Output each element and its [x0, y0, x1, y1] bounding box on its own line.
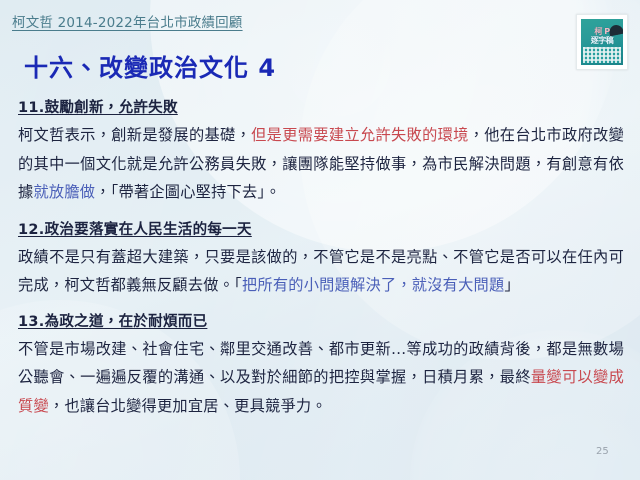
slide-kicker: 柯文哲 2014-2022年台北市政績回顧	[12, 14, 243, 33]
section-12: 12.政治要落實在人民生活的每一天 政績不是只有蓋超大建築，只要是該做的，不管它…	[18, 218, 624, 300]
text-run-1: 但是更需要建立允許失敗的環境	[251, 126, 469, 144]
section-13-heading: 13.為政之道，在於耐煩而已	[18, 310, 207, 335]
logo-image: 柯 P 逐字稿	[581, 19, 623, 65]
section-11: 11.鼓勵創新，允許失敗 柯文哲表示，創新是發展的基礎，但是更需要建立允許失敗的…	[18, 96, 624, 207]
text-run-1: 把所有的小問題解決了，就沒有大問題	[242, 276, 504, 294]
logo-line-1: 柯 P	[581, 27, 623, 36]
slide-body: 11.鼓勵創新，允許失敗 柯文哲表示，創新是發展的基礎，但是更需要建立允許失敗的…	[18, 96, 624, 422]
keyboard-icon	[583, 47, 621, 63]
section-12-heading: 12.政治要落實在人民生活的每一天	[18, 218, 252, 243]
spacer-12	[18, 209, 624, 218]
page-title: 十六、改變政治文化 4	[24, 52, 276, 84]
logo-line-2: 逐字稿	[581, 36, 623, 45]
text-run-0: 柯文哲表示，創新是發展的基礎，	[18, 126, 251, 144]
section-13: 13.為政之道，在於耐煩而已 不管是市場改建、社會住宅、鄰里交通改善、都市更新……	[18, 310, 624, 421]
text-run-3: 就放膽做	[33, 183, 95, 201]
spacer-13	[18, 302, 624, 310]
section-13-body: 不管是市場改建、社會住宅、鄰里交通改善、都市更新…等成功的政績背後，都是無數場公…	[18, 335, 624, 421]
section-12-body: 政績不是只有蓋超大建築，只要是該做的，不管它是不是亮點、不管它是否可以在任內可完…	[18, 243, 624, 300]
logo-badge: 柯 P 逐字稿	[576, 14, 628, 70]
text-run-4: ，「帶著企圖心堅持下去」。	[95, 183, 281, 201]
logo-text: 柯 P 逐字稿	[581, 27, 623, 45]
text-run-2: ，也讓台北變得更加宜居、更具競爭力。	[49, 397, 327, 415]
page-number: 25	[596, 446, 624, 458]
presentation-slide: 柯文哲 2014-2022年台北市政績回顧 柯 P 逐字稿 十六、改變政治文化 …	[0, 0, 640, 480]
section-11-body: 柯文哲表示，創新是發展的基礎，但是更需要建立允許失敗的環境，他在台北市政府改變的…	[18, 121, 624, 207]
section-11-heading: 11.鼓勵創新，允許失敗	[18, 96, 178, 121]
text-run-2: 」	[504, 276, 519, 294]
